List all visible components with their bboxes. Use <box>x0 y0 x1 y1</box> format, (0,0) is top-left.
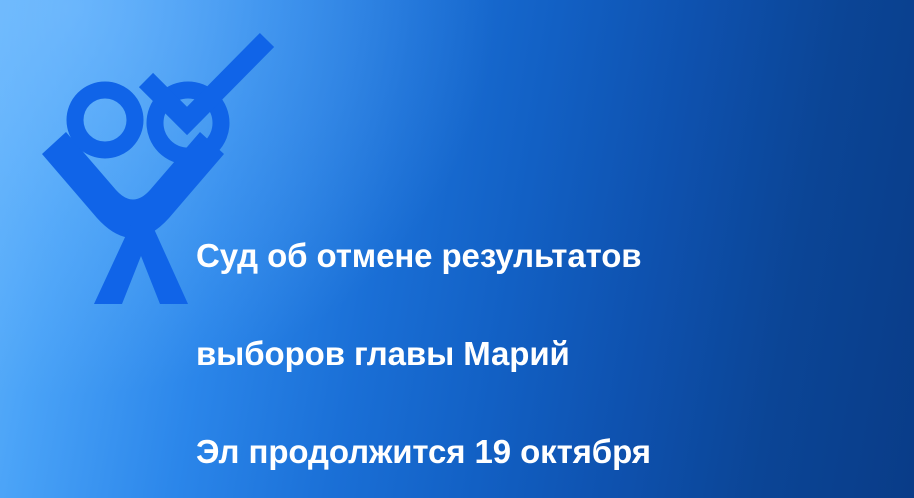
news-banner: Суд об отмене результатов выборов главы … <box>0 0 914 498</box>
legs-v-shape <box>94 220 188 304</box>
headline-line-2: выборов главы Марий <box>196 329 836 378</box>
headline-line-3: Эл продолжится 19 октября <box>196 427 836 476</box>
checkmark-stroke <box>146 40 267 121</box>
headline-line-1: Суд об отмене результатов <box>196 231 836 280</box>
page-title: Суд об отмене результатов выборов главы … <box>196 182 836 498</box>
left-eye-ring <box>75 90 135 150</box>
